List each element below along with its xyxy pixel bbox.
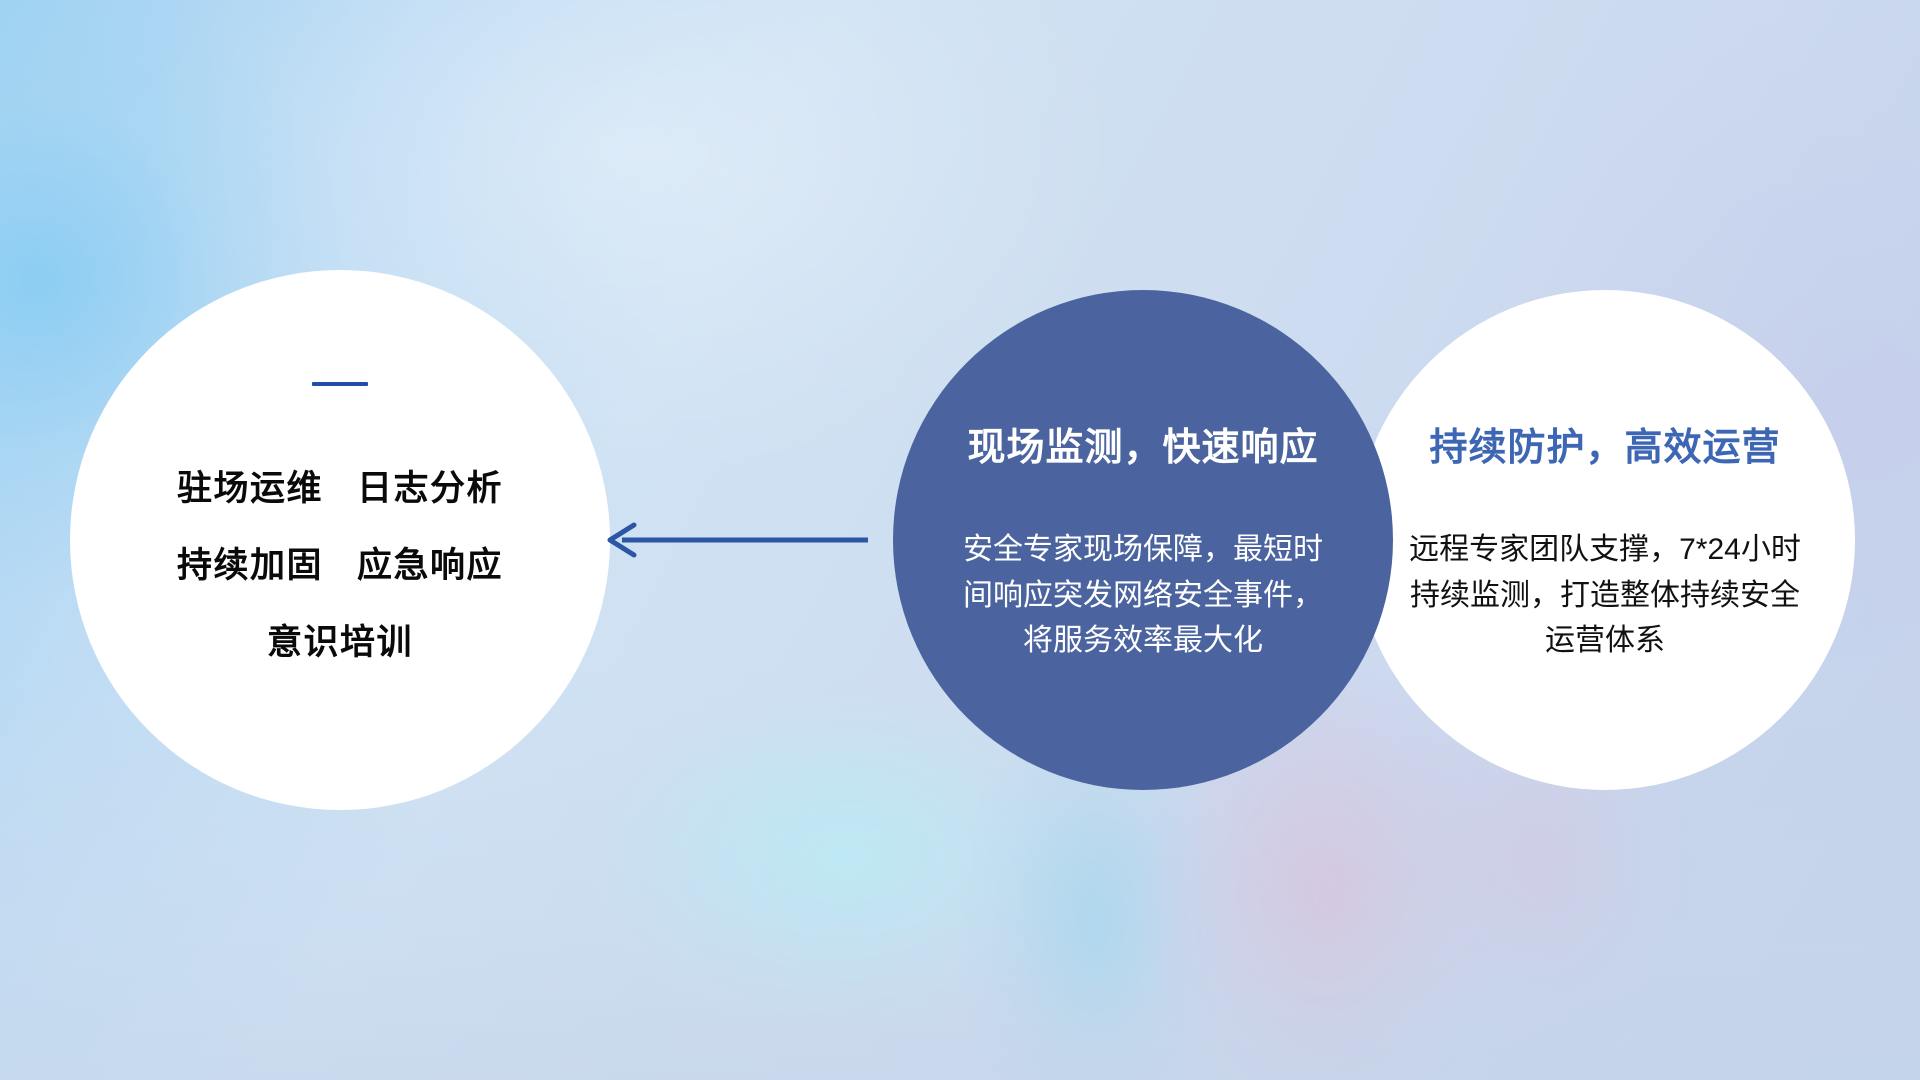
left-circle-content: 驻场运维 日志分析 持续加固 应急响应 意识培训: [110, 382, 570, 691]
keyword-item: 日志分析: [357, 460, 503, 511]
arrow-left-icon: [596, 516, 876, 564]
left-keyword-circle[interactable]: 驻场运维 日志分析 持续加固 应急响应 意识培训: [70, 270, 610, 810]
center-onsite-circle[interactable]: 现场监测，快速响应 安全专家现场保障，最短时间响应突发网络安全事件，将服务效率最…: [893, 290, 1393, 790]
right-operations-circle[interactable]: 持续防护，高效运营 远程专家团队支撑，7*24小时持续监测，打造整体持续安全运营…: [1355, 290, 1855, 790]
keyword-item: 应急响应: [357, 537, 503, 588]
keyword-item: 意识培训: [267, 614, 413, 665]
right-circle-body: 远程专家团队支撑，7*24小时持续监测，打造整体持续安全运营体系: [1399, 527, 1811, 664]
keyword-row: 驻场运维 日志分析: [110, 460, 570, 511]
slide-canvas: 驻场运维 日志分析 持续加固 应急响应 意识培训 现场监测，快速响应 安全专家现…: [0, 0, 1920, 1080]
right-circle-title: 持续防护，高效运营: [1385, 416, 1825, 471]
center-circle-title: 现场监测，快速响应: [933, 416, 1353, 471]
keyword-item: 驻场运维: [177, 460, 323, 511]
right-circle-content: 持续防护，高效运营 远程专家团队支撑，7*24小时持续监测，打造整体持续安全运营…: [1385, 416, 1825, 664]
center-circle-body: 安全专家现场保障，最短时间响应突发网络安全事件，将服务效率最大化: [957, 527, 1329, 664]
divider-dash-icon: [312, 382, 368, 386]
center-circle-content: 现场监测，快速响应 安全专家现场保障，最短时间响应突发网络安全事件，将服务效率最…: [933, 416, 1353, 664]
keyword-item: 持续加固: [177, 537, 323, 588]
keyword-row: 意识培训: [110, 614, 570, 665]
keyword-row: 持续加固 应急响应: [110, 537, 570, 588]
